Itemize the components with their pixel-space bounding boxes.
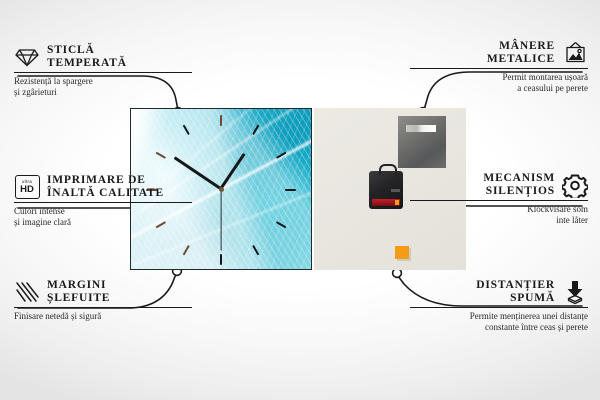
gear-icon [562, 172, 588, 198]
callout-title: DISTANȚIER SPUMĂ [476, 279, 555, 305]
hour-tick [276, 221, 287, 228]
battery-positive-tip [395, 200, 399, 205]
clock-mechanism [369, 171, 403, 209]
callout-tempered-glass: STICLĂ TEMPERATĂ Rezistență la spargere … [14, 44, 192, 98]
battery [372, 199, 400, 206]
callout-title: MECANISM SILENȚIOS [483, 172, 555, 198]
callout-subtitle: Permit montarea ușoară a ceasului pe per… [410, 72, 588, 94]
callout-title: IMPRIMARE DE ÎNALTĂ CALITATE [47, 174, 164, 200]
hour-tick [220, 115, 222, 126]
callout-header: ultra HD IMPRIMARE DE ÎNALTĂ CALITATE [14, 174, 192, 200]
mechanism-detail [391, 189, 400, 192]
arrow-down-pad-icon [562, 279, 588, 305]
callout-title: STICLĂ TEMPERATĂ [47, 44, 127, 70]
ultra-hd-badge-icon: ultra HD [14, 174, 40, 200]
foam-spacer-pad [395, 246, 409, 259]
callout-divider [14, 72, 192, 73]
hour-tick [183, 245, 190, 256]
callout-subtitle: Rezistență la spargere și zgârieturi [14, 76, 192, 98]
hour-tick [156, 152, 167, 159]
callout-header: STICLĂ TEMPERATĂ [14, 44, 192, 70]
feather-highlight [164, 108, 289, 182]
hour-tick [183, 125, 190, 136]
clock-hands-cap [219, 187, 224, 192]
metal-hanger-plate [398, 116, 446, 168]
diamond-icon [14, 44, 40, 70]
callout-silent-mechanism: MECANISM SILENȚIOS Klockvisare som inte … [410, 172, 588, 226]
callout-divider [410, 307, 588, 308]
hour-tick [285, 189, 296, 191]
callout-subtitle: Culori intense și imagine clară [14, 206, 192, 228]
mechanism-hanging-loop [379, 164, 397, 175]
callout-title: MARGINI ȘLEFUITE [47, 279, 110, 305]
callout-header: DISTANȚIER SPUMĂ [410, 279, 588, 305]
callout-divider [410, 200, 588, 201]
callout-subtitle: Permite menținerea unei distanțe constan… [410, 311, 588, 333]
callout-subtitle: Finisare netedă și sigură [14, 311, 192, 322]
callout-subtitle: Klockvisare som inte låter [410, 204, 588, 226]
callout-header: MECANISM SILENȚIOS [410, 172, 588, 198]
diagonal-lines-icon [14, 279, 40, 305]
callout-header: MÂNERE METALICE [410, 40, 588, 66]
hour-tick [220, 254, 222, 265]
callout-title: MÂNERE METALICE [487, 40, 555, 66]
callout-print-quality: ultra HD IMPRIMARE DE ÎNALTĂ CALITATE Cu… [14, 174, 192, 228]
callout-metal-handles: MÂNERE METALICE Permit montarea ușoară a… [410, 40, 588, 94]
clock-second-hand [220, 189, 221, 251]
callout-foam-spacer: DISTANȚIER SPUMĂ Permite menținerea unei… [410, 279, 588, 333]
hanger-slot [406, 125, 436, 132]
hour-tick [252, 245, 259, 256]
callout-divider [14, 307, 192, 308]
infographic-canvas: STICLĂ TEMPERATĂ Rezistență la spargere … [0, 0, 600, 400]
ultra-hd-icon-main-label: HD [20, 185, 34, 195]
callout-polished-edges: MARGINI ȘLEFUITE Finisare netedă și sigu… [14, 279, 192, 322]
callout-divider [14, 202, 192, 203]
callout-header: MARGINI ȘLEFUITE [14, 279, 192, 305]
picture-frame-icon [562, 40, 588, 66]
callout-divider [410, 68, 588, 69]
